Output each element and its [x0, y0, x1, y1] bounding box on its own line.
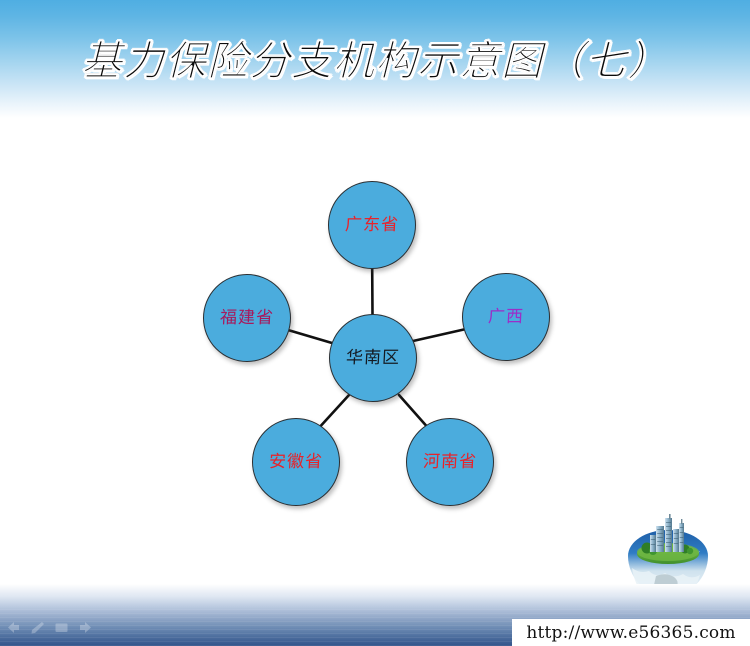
- diagram-node-label: 河南省: [423, 454, 478, 471]
- slide-menu-icon[interactable]: [54, 621, 69, 634]
- site-url-watermark: http://www.e56365.com: [512, 619, 750, 646]
- diagram-node-guangxi[interactable]: 广西: [462, 273, 550, 361]
- diagram-node-fujian[interactable]: 福建省: [203, 274, 291, 362]
- diagram-node-center-huanan[interactable]: 华南区: [329, 314, 417, 402]
- diagram-node-label: 安徽省: [269, 454, 324, 471]
- edge-center-to-right: [413, 329, 466, 341]
- edge-center-to-left: [288, 330, 332, 343]
- slideshow-nav-controls[interactable]: [6, 621, 93, 634]
- diagram-node-anhui[interactable]: 安徽省: [252, 418, 340, 506]
- edge-center-to-bottomleft: [317, 395, 349, 430]
- diagram-node-label: 福建省: [220, 310, 275, 327]
- pen-icon[interactable]: [30, 621, 45, 634]
- next-slide-icon[interactable]: [78, 621, 93, 634]
- diagram-node-henan[interactable]: 河南省: [406, 418, 494, 506]
- diagram-node-label: 华南区: [346, 350, 401, 367]
- diagram-node-label: 广西: [488, 309, 525, 326]
- site-url-text: http://www.e56365.com: [526, 623, 735, 643]
- previous-slide-icon[interactable]: [6, 621, 21, 634]
- diagram-node-guangdong[interactable]: 广东省: [328, 181, 416, 269]
- slide-canvas: 基力保险分支机构示意图（七） 广东省 广西 福建省 安徽省 河南省: [0, 0, 750, 646]
- diagram-node-label: 广东省: [345, 217, 400, 234]
